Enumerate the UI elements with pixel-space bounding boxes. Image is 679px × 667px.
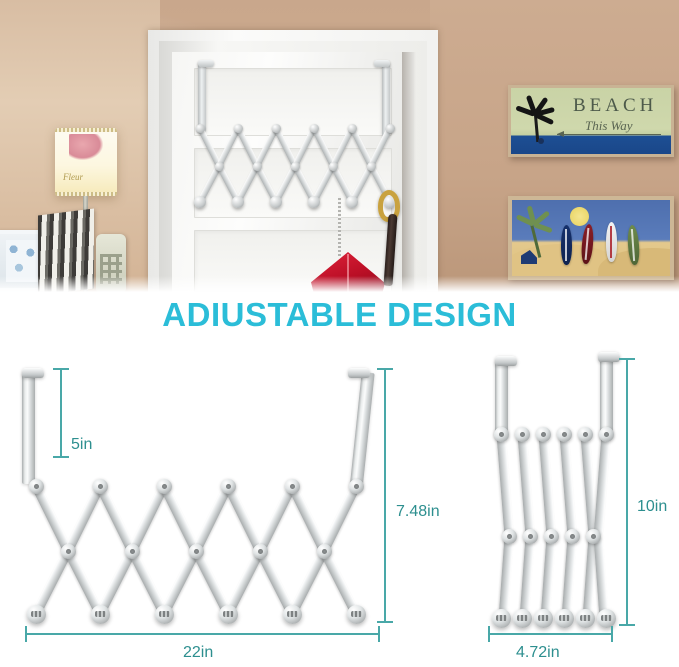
accordion-pivot (317, 544, 332, 559)
accordion-pivot (253, 162, 262, 171)
surfboard-icon (561, 225, 572, 265)
coat-hook (347, 605, 366, 624)
beach-sign-title: BEACH (573, 95, 657, 117)
beach-sign-subtitle: This Way (585, 118, 633, 134)
product-infographic: Fleur (0, 0, 679, 667)
coat-hook (597, 609, 616, 628)
coat-hook (194, 196, 206, 208)
accordion-pivot (189, 544, 204, 559)
accordion-pivot (578, 427, 593, 442)
accordion-pivot (93, 479, 108, 494)
accordion-pivot (253, 544, 268, 559)
accordion-pivot (61, 544, 76, 559)
dimension-cap (611, 626, 613, 642)
surfboard-stripe (631, 229, 635, 261)
dimension-label-10in: 10in (637, 498, 667, 516)
accordion-arm (499, 536, 514, 619)
coat-hook (308, 196, 320, 208)
coat-hook (232, 196, 244, 208)
accordion-pivot (29, 479, 44, 494)
accordion-pivot (329, 162, 338, 171)
accordion-pivot (157, 479, 172, 494)
accordion-pivot (125, 544, 140, 559)
accordion-arm (541, 536, 556, 619)
accordion-pivot (367, 162, 376, 171)
coat-hook (534, 609, 553, 628)
accordion-pivot (536, 427, 551, 442)
beach-sign-artwork: BEACH This Way (508, 85, 674, 157)
dimension-line (488, 633, 613, 635)
accordion-pivot (215, 162, 224, 171)
dimension-cap (377, 621, 393, 623)
accordion-pivot (349, 479, 364, 494)
dimension-label-748in: 7.48in (396, 503, 440, 521)
mounted-coat-rack (186, 58, 406, 228)
accordion-arm (518, 434, 535, 537)
coat-hook (155, 605, 174, 624)
dimension-cap (619, 624, 635, 626)
bracket-hook-right (374, 60, 390, 67)
over-door-bracket-right (350, 372, 375, 485)
left-arrow-icon (557, 134, 661, 135)
coconut (538, 138, 544, 144)
lifestyle-photo: Fleur (0, 0, 679, 292)
accordion-pivot (291, 162, 300, 171)
coat-hook (555, 609, 574, 628)
accordion-pivot (285, 479, 300, 494)
over-door-bracket-right (600, 354, 613, 438)
accordion-arm (594, 434, 611, 537)
accordion-pivot (515, 427, 530, 442)
lampshade-trim-top (55, 128, 117, 132)
accordion-arm (539, 434, 556, 537)
dimension-diagram: 5in 7.48in 22in 10in 4.72 (0, 346, 679, 667)
lampshade-floral-pattern (69, 134, 103, 160)
bracket-hook-left (198, 60, 214, 67)
coat-hook (513, 609, 532, 628)
surfboard-stripe (565, 229, 567, 261)
coat-hook (270, 196, 282, 208)
table-lamp-shade: Fleur (55, 128, 117, 196)
palm-leaf (533, 222, 553, 233)
accordion-pivot (523, 529, 538, 544)
bag-chain-strap (338, 196, 341, 258)
lampshade-script-text: Fleur (63, 172, 83, 182)
bracket-hook-right (598, 352, 620, 362)
coat-hook (346, 196, 358, 208)
accordion-pivot (348, 124, 357, 133)
surfboard-artwork (508, 196, 674, 280)
accordion-pivot (544, 529, 559, 544)
surfboard-stripe (610, 226, 612, 258)
photo-bottom-fade (0, 276, 679, 292)
surfboard-icon (606, 222, 617, 262)
accordion-pivot (221, 479, 236, 494)
accordion-arm (497, 434, 514, 537)
surfboard-stripe (585, 228, 590, 260)
accordion-pivot (565, 529, 580, 544)
accordion-lattice (194, 122, 400, 206)
bracket-hook-left (22, 368, 44, 378)
dimension-line (626, 358, 628, 626)
dimension-label-5in: 5in (71, 436, 92, 454)
dimension-line (60, 368, 62, 458)
accordion-pivot (196, 124, 205, 133)
page-title: ADIUSTABLE DESIGN (0, 296, 679, 334)
accordion-arm (520, 536, 535, 619)
accordion-pivot (310, 124, 319, 133)
bracket-hook-right (348, 368, 370, 378)
coat-hook (91, 605, 110, 624)
accordion-arm (320, 484, 360, 553)
dimension-cap (378, 626, 380, 642)
accordion-pivot (599, 427, 614, 442)
coat-hook (219, 605, 238, 624)
coat-hook (283, 605, 302, 624)
accordion-arm (594, 536, 609, 619)
dimension-cap (53, 456, 69, 458)
accordion-pivot (502, 529, 517, 544)
over-door-bracket-left (22, 372, 35, 484)
accordion-pivot (386, 124, 395, 133)
accordion-arm (562, 536, 577, 619)
accordion-pivot (494, 427, 509, 442)
accordion-pivot (557, 427, 572, 442)
sun-icon (570, 207, 589, 226)
accordion-arm (560, 434, 577, 537)
accordion-pivot (234, 124, 243, 133)
coat-hook (576, 609, 595, 628)
dimension-label-22in: 22in (183, 644, 213, 662)
coat-hook (492, 609, 511, 628)
bracket-hook-left (495, 356, 517, 366)
dimension-label-472in: 4.72in (516, 644, 560, 662)
accordion-pivot (272, 124, 281, 133)
accordion-pivot (586, 529, 601, 544)
coat-hook (27, 605, 46, 624)
dimension-line (25, 633, 380, 635)
dimension-line (384, 368, 386, 623)
